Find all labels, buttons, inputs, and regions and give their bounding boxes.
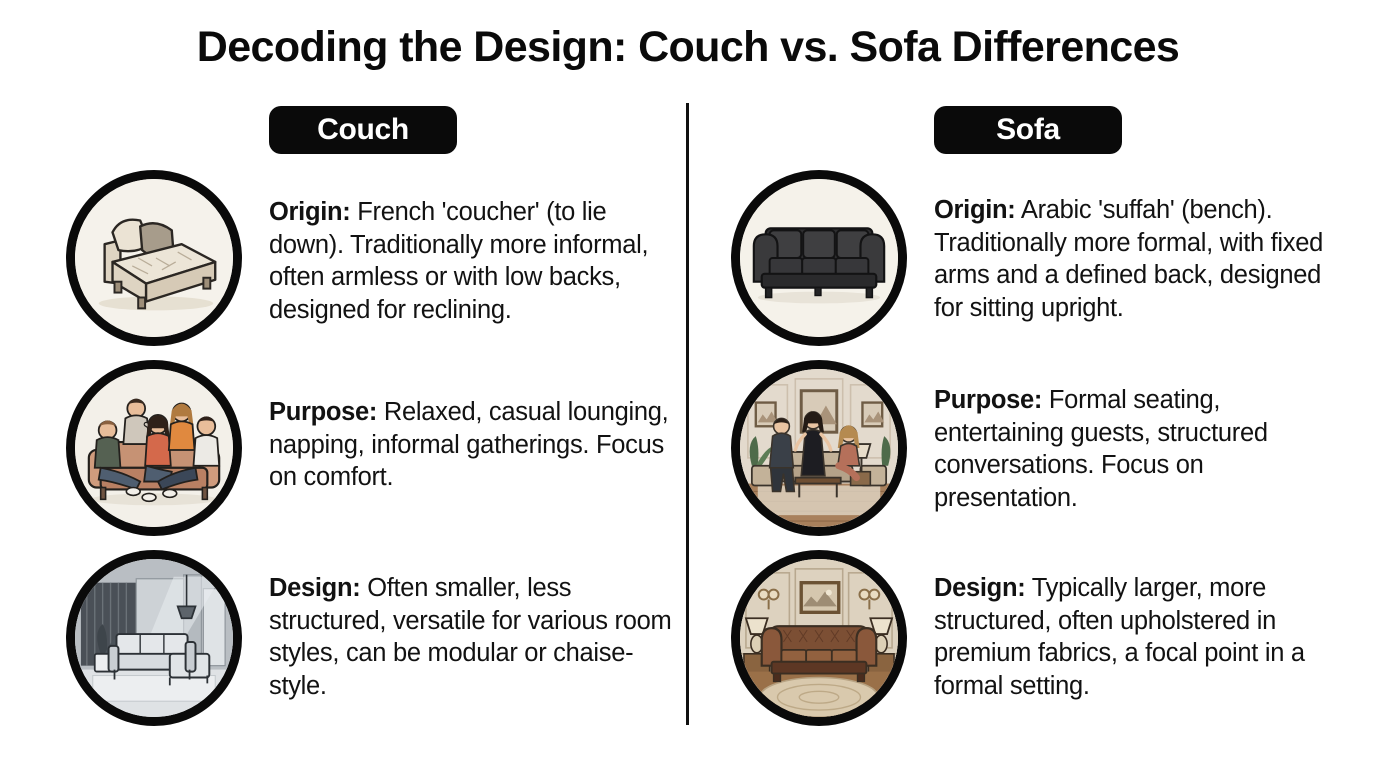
page-title: Decoding the Design: Couch vs. Sofa Diff… [0, 24, 1376, 71]
row-couch-design-text: Design: Often smaller, less structured, … [269, 550, 686, 703]
row-label: Purpose: [269, 398, 377, 426]
modern-living-room-illustration [66, 550, 242, 726]
chesterfield-room-illustration [731, 550, 907, 726]
vertical-divider [686, 103, 689, 725]
row-label: Origin: [269, 198, 350, 226]
column-couch: Origin: French 'coucher' (to lie down). … [66, 170, 686, 740]
row-label: Origin: [934, 196, 1015, 224]
row-sofa-purpose-text: Purpose: Formal seating, entertaining gu… [934, 360, 1351, 515]
chaise-lounge-illustration [66, 170, 242, 346]
row-label: Purpose: [934, 386, 1042, 414]
row-couch-purpose-text: Purpose: Relaxed, casual lounging, nappi… [269, 360, 686, 494]
row-couch-purpose: Purpose: Relaxed, casual lounging, nappi… [66, 360, 686, 550]
friends-on-couch-illustration [66, 360, 242, 536]
column-header-couch: Couch [269, 106, 457, 154]
row-sofa-design: Design: Typically larger, more structure… [731, 550, 1351, 740]
row-sofa-origin: Origin: Arabic 'suffah' (bench). Traditi… [731, 170, 1351, 360]
formal-gathering-illustration [731, 360, 907, 536]
row-couch-origin-text: Origin: French 'coucher' (to lie down). … [269, 170, 686, 327]
row-label: Design: [934, 574, 1025, 602]
column-header-couch-label: Couch [317, 113, 409, 147]
row-couch-design: Design: Often smaller, less structured, … [66, 550, 686, 740]
row-sofa-purpose: Purpose: Formal seating, entertaining gu… [731, 360, 1351, 550]
row-label: Design: [269, 574, 360, 602]
column-header-sofa-label: Sofa [996, 113, 1060, 147]
column-sofa: Origin: Arabic 'suffah' (bench). Traditi… [731, 170, 1351, 740]
row-sofa-design-text: Design: Typically larger, more structure… [934, 550, 1351, 703]
row-sofa-origin-text: Origin: Arabic 'suffah' (bench). Traditi… [934, 170, 1351, 325]
charcoal-sofa-illustration [731, 170, 907, 346]
row-couch-origin: Origin: French 'coucher' (to lie down). … [66, 170, 686, 360]
column-header-sofa: Sofa [934, 106, 1122, 154]
